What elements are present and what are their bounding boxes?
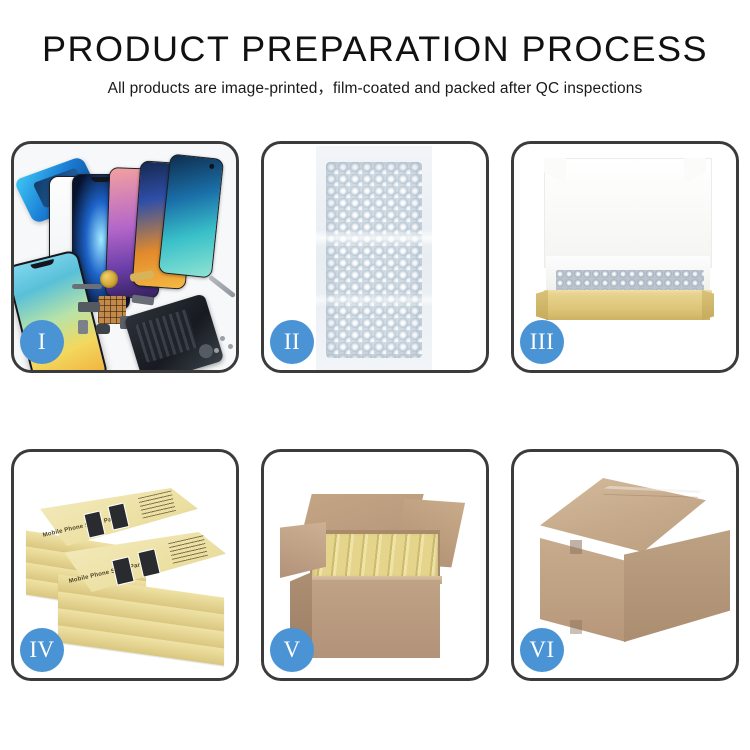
process-step-panel-3[interactable]: III <box>511 141 739 373</box>
inner-box-side-left <box>536 290 548 320</box>
process-step-grid: I II III <box>11 141 739 681</box>
screw-part <box>214 348 219 353</box>
page-subtitle: All products are image-printed，film-coat… <box>0 78 750 100</box>
carton-edge-tab <box>570 620 582 634</box>
wrap-highlight <box>316 230 432 246</box>
step-badge-3: III <box>520 320 564 364</box>
camera-module-part <box>78 302 100 312</box>
step-badge-2: II <box>270 320 314 364</box>
page-title: PRODUCT PREPARATION PROCESS <box>0 30 750 70</box>
process-step-panel-1[interactable]: I <box>11 141 239 373</box>
wrap-highlight <box>316 294 432 306</box>
inner-box-side-right <box>702 290 714 320</box>
notch-icon <box>30 259 54 270</box>
screw-part <box>220 336 225 341</box>
step-badge-5: V <box>270 628 314 672</box>
process-step-panel-4[interactable]: Mobile Phone Spare Parts Mobile Phone Sp… <box>11 449 239 681</box>
process-step-panel-6[interactable]: VI <box>511 449 739 681</box>
flex-cable-part <box>72 284 102 289</box>
step-badge-1: I <box>20 320 64 364</box>
page-header: PRODUCT PREPARATION PROCESS All products… <box>0 0 750 100</box>
speaker-part <box>96 324 110 334</box>
process-step-panel-5[interactable]: V <box>261 449 489 681</box>
carton-front-face <box>310 580 440 658</box>
step-badge-6: VI <box>520 628 564 672</box>
step-badge-4: IV <box>20 628 64 672</box>
battery-connector-part <box>78 320 88 334</box>
process-step-panel-2[interactable]: II <box>261 141 489 373</box>
screw-part <box>228 344 233 349</box>
bubble-wrap-bubbles <box>326 162 422 358</box>
speaker-coil-part <box>100 270 118 288</box>
carton-edge-tab <box>570 540 582 554</box>
punch-hole-icon <box>209 164 214 169</box>
inner-box-front <box>546 294 710 320</box>
carton-contents-yellow-boxes <box>312 534 438 582</box>
